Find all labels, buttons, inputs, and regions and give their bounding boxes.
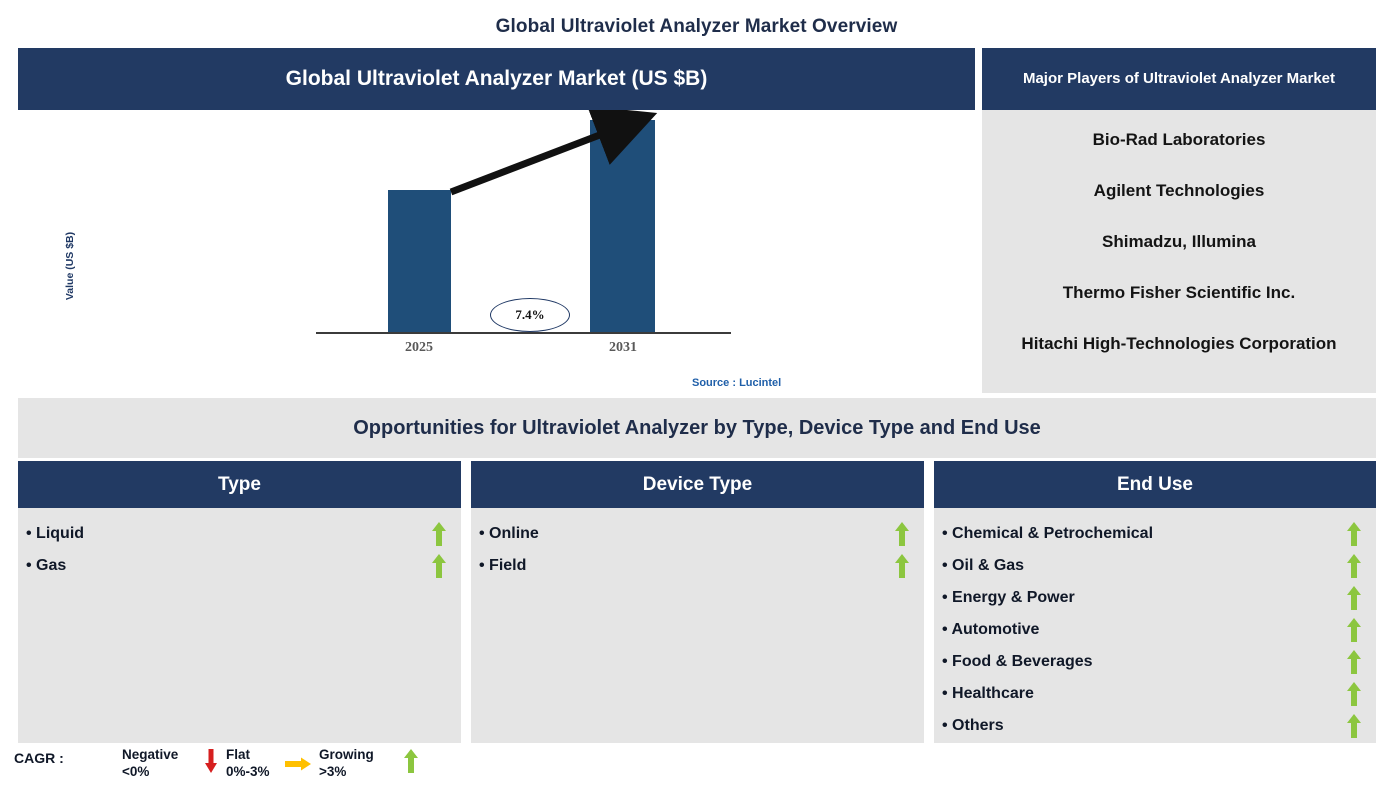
- column-list-type: • Liquid • Gas: [18, 508, 461, 582]
- legend-entry-label: Flat: [226, 746, 270, 763]
- arrow-up-icon: [894, 522, 910, 551]
- column-device-type: Device Type • Online • Field: [471, 461, 924, 743]
- list-item: • Chemical & Petrochemical: [934, 518, 1376, 550]
- page-title: Global Ultraviolet Analyzer Market Overv…: [0, 16, 1393, 38]
- list-item-label: • Liquid: [26, 525, 84, 543]
- legend-entry-negative: Negative <0%: [122, 746, 178, 780]
- arrow-up-icon: [1346, 650, 1362, 679]
- list-item: Agilent Technologies: [982, 165, 1376, 216]
- list-item: • Oil & Gas: [934, 550, 1376, 582]
- list-item-label: • Automotive: [942, 621, 1039, 639]
- list-item: • Healthcare: [934, 678, 1376, 710]
- arrow-right-icon: [285, 756, 311, 777]
- opportunities-band-title: Opportunities for Ultraviolet Analyzer b…: [18, 398, 1376, 458]
- legend-entry-range: <0%: [122, 763, 178, 780]
- major-players-panel: Major Players of Ultraviolet Analyzer Ma…: [982, 48, 1376, 393]
- column-type: Type • Liquid • Gas: [18, 461, 461, 743]
- arrow-up-icon: [1346, 586, 1362, 615]
- list-item-label: • Gas: [26, 557, 66, 575]
- list-item-label: • Food & Beverages: [942, 653, 1093, 671]
- cagr-legend: CAGR : Negative <0% Flat 0%-3% Growing >…: [14, 746, 484, 788]
- list-item-label: • Energy & Power: [942, 589, 1075, 607]
- legend-entry-range: >3%: [319, 763, 374, 780]
- bar-2031: [590, 120, 655, 332]
- list-item: Shimadzu, Illumina: [982, 216, 1376, 267]
- list-item: Thermo Fisher Scientific Inc.: [982, 267, 1376, 318]
- bar-2025: [388, 190, 451, 332]
- column-header-type: Type: [18, 461, 461, 508]
- column-header-device-type: Device Type: [471, 461, 924, 508]
- list-item: • Field: [471, 550, 924, 582]
- list-item: • Liquid: [18, 518, 461, 550]
- legend-entry-range: 0%-3%: [226, 763, 270, 780]
- arrow-up-icon: [1346, 618, 1362, 647]
- growth-arrow-icon: [18, 110, 975, 393]
- arrow-up-icon: [1346, 554, 1362, 583]
- x-tick-2025: 2025: [359, 340, 479, 356]
- arrow-up-icon: [1346, 522, 1362, 551]
- list-item: • Food & Beverages: [934, 646, 1376, 678]
- arrow-up-icon: [894, 554, 910, 583]
- list-item: • Energy & Power: [934, 582, 1376, 614]
- arrow-up-icon: [431, 522, 447, 551]
- legend-entry-label: Growing: [319, 746, 374, 763]
- players-panel-header: Major Players of Ultraviolet Analyzer Ma…: [982, 48, 1376, 110]
- column-list-end-use: • Chemical & Petrochemical • Oil & Gas •…: [934, 508, 1376, 742]
- list-item: • Others: [934, 710, 1376, 742]
- arrow-up-icon: [403, 749, 419, 778]
- list-item-label: • Field: [479, 557, 526, 575]
- x-tick-2031: 2031: [563, 340, 683, 356]
- bar-chart: Value (US $B) 7.4% 2025 2031: [18, 110, 975, 393]
- list-item-label: • Others: [942, 717, 1004, 735]
- column-header-end-use: End Use: [934, 461, 1376, 508]
- list-item: Hitachi High-Technologies Corporation: [982, 318, 1376, 369]
- arrow-down-icon: [204, 749, 218, 778]
- arrow-up-icon: [431, 554, 447, 583]
- legend-entry-label: Negative: [122, 746, 178, 763]
- legend-entry-flat: Flat 0%-3%: [226, 746, 270, 780]
- y-axis-label: Value (US $B): [64, 206, 76, 326]
- legend-entry-growing: Growing >3%: [319, 746, 374, 780]
- source-label: Source : Lucintel: [692, 377, 781, 389]
- list-item: • Gas: [18, 550, 461, 582]
- list-item: • Online: [471, 518, 924, 550]
- cagr-callout-badge: 7.4%: [490, 298, 570, 332]
- list-item-label: • Healthcare: [942, 685, 1034, 703]
- list-item-label: • Chemical & Petrochemical: [942, 525, 1153, 543]
- cagr-legend-title: CAGR :: [14, 750, 64, 766]
- market-chart-panel: Global Ultraviolet Analyzer Market (US $…: [18, 48, 975, 393]
- list-item: • Automotive: [934, 614, 1376, 646]
- x-axis-line: [316, 332, 731, 334]
- infographic-page: Global Ultraviolet Analyzer Market Overv…: [0, 0, 1393, 791]
- column-end-use: End Use • Chemical & Petrochemical • Oil…: [934, 461, 1376, 743]
- column-list-device-type: • Online • Field: [471, 508, 924, 582]
- arrow-up-icon: [1346, 714, 1362, 743]
- list-item-label: • Online: [479, 525, 539, 543]
- chart-panel-header: Global Ultraviolet Analyzer Market (US $…: [18, 48, 975, 110]
- list-item-label: • Oil & Gas: [942, 557, 1024, 575]
- arrow-up-icon: [1346, 682, 1362, 711]
- players-list: Bio-Rad Laboratories Agilent Technologie…: [982, 110, 1376, 369]
- list-item: Bio-Rad Laboratories: [982, 114, 1376, 165]
